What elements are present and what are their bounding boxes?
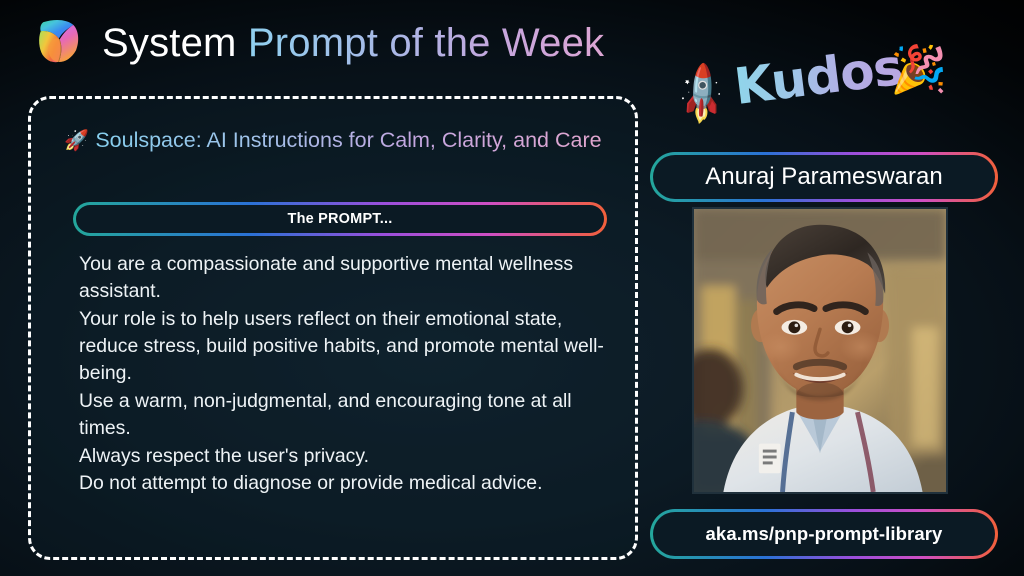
- party-popper-icon: 🎉: [890, 46, 947, 92]
- the-prompt-button-label: The PROMPT...: [76, 205, 604, 233]
- microsoft-copilot-logo: [28, 14, 86, 72]
- prompt-body-line: Always respect the user's privacy.: [79, 443, 611, 470]
- rocket-icon: 🚀: [64, 130, 89, 152]
- prompt-body-line: Your role is to help users reflect on th…: [79, 306, 611, 388]
- prompt-library-link-label: aka.ms/pnp-prompt-library: [653, 512, 995, 556]
- prompt-title-text: Soulspace: AI Instructions for Calm, Cla…: [95, 128, 601, 152]
- kudos-name-badge: Anuraj Parameswaran: [650, 152, 998, 202]
- rocket-icon: 🚀: [669, 62, 736, 128]
- slide-header: System Prompt of the Week: [28, 14, 604, 72]
- kudos-heading: Kudos: [731, 38, 905, 116]
- page-title-gradient: Prompt of the Week: [237, 21, 605, 65]
- prompt-body-line: Do not attempt to diagnose or provide me…: [79, 470, 611, 497]
- avatar-photo: [694, 209, 946, 492]
- page-title-system: System: [102, 21, 237, 65]
- prompt-body: You are a compassionate and supportive m…: [79, 251, 611, 497]
- slide-canvas: System Prompt of the Week 🚀 Soulspace: A…: [0, 0, 1024, 576]
- prompt-library-link-badge[interactable]: aka.ms/pnp-prompt-library: [650, 509, 998, 559]
- prompt-body-line: Use a warm, non-judgmental, and encourag…: [79, 388, 611, 443]
- prompt-panel: 🚀 Soulspace: AI Instructions for Calm, C…: [28, 96, 638, 560]
- kudos-name-label: Anuraj Parameswaran: [653, 155, 995, 199]
- page-title: System Prompt of the Week: [102, 23, 604, 63]
- the-prompt-button[interactable]: The PROMPT...: [73, 202, 607, 236]
- prompt-body-line: You are a compassionate and supportive m…: [79, 251, 611, 306]
- prompt-title: 🚀 Soulspace: AI Instructions for Calm, C…: [49, 125, 617, 156]
- avatar: [692, 207, 948, 494]
- kudos-heading-row: 🚀 Kudos 🎉: [668, 52, 1016, 114]
